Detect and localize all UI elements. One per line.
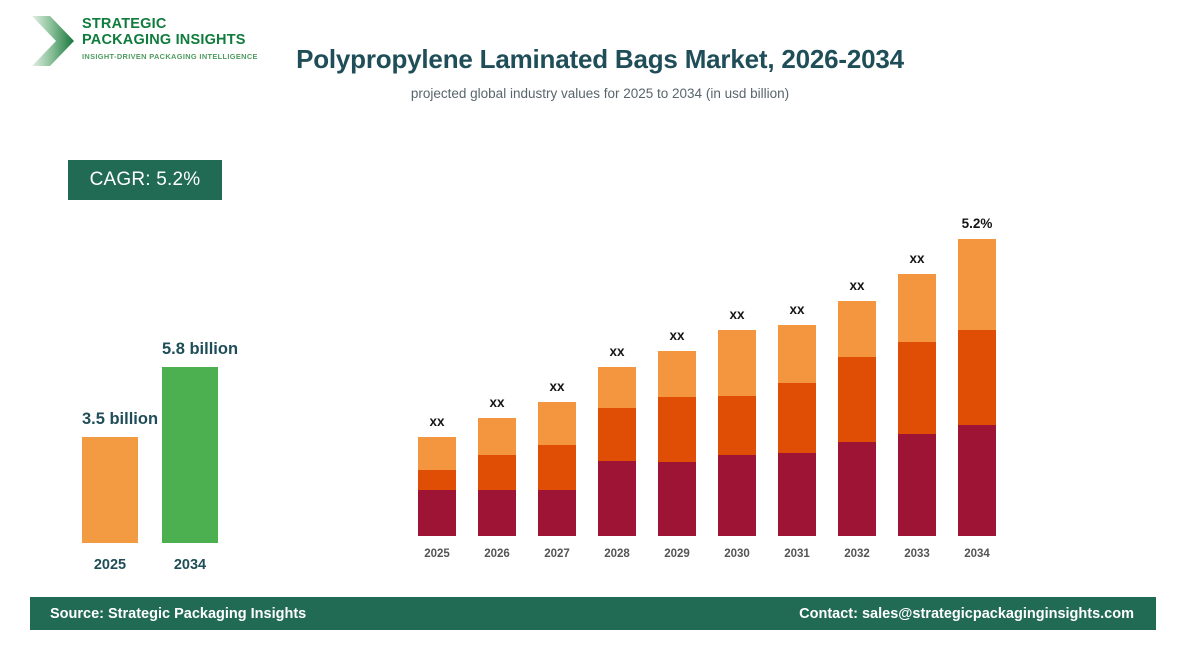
- stacked-segment-segment-top: [658, 351, 696, 397]
- stacked-year-label: 2031: [767, 548, 827, 560]
- stacked-year-label: 2029: [647, 548, 707, 560]
- stacked-segment-segment-top: [778, 325, 816, 383]
- stacked-segment-segment-bottom: [958, 425, 996, 536]
- stacked-column: xx2033: [898, 200, 936, 560]
- stacked-year-label: 2030: [707, 548, 767, 560]
- stacked-segment-segment-bottom: [478, 490, 516, 536]
- stacked-segment-segment-bottom: [418, 490, 456, 536]
- stacked-segment-segment-bottom: [538, 490, 576, 536]
- stacked-segment-segment-middle: [478, 455, 516, 490]
- stacked-value-label: 5.2%: [937, 216, 1017, 231]
- stacked-bar: [658, 351, 696, 536]
- stacked-bar: [838, 301, 876, 536]
- stacked-column: 5.2%2034: [958, 200, 996, 560]
- stacked-segment-segment-bottom: [718, 455, 756, 536]
- comparison-column: 5.8 billion2034: [162, 300, 238, 575]
- stacked-segment-segment-top: [718, 330, 756, 396]
- stacked-segment-segment-middle: [418, 470, 456, 490]
- stacked-column: xx2030: [718, 200, 756, 560]
- logo-line-1: STRATEGIC: [82, 16, 258, 32]
- logo-tagline: INSIGHT-DRIVEN PACKAGING INTELLIGENCE: [82, 52, 258, 61]
- stacked-segment-segment-top: [838, 301, 876, 357]
- stacked-bar: [538, 402, 576, 536]
- stacked-segment-segment-top: [958, 239, 996, 330]
- stacked-column: xx2028: [598, 200, 636, 560]
- stacked-bar: [718, 330, 756, 536]
- forecast-stacked-chart: xx2025xx2026xx2027xx2028xx2029xx2030xx20…: [404, 200, 1014, 560]
- comparison-bar: [82, 437, 138, 543]
- stacked-year-label: 2034: [947, 548, 1007, 560]
- footer-contact-text: Contact: sales@strategicpackaginginsight…: [799, 606, 1134, 622]
- stacked-segment-segment-middle: [838, 357, 876, 442]
- stacked-value-label: xx: [757, 302, 837, 317]
- stacked-segment-segment-top: [898, 274, 936, 342]
- stacked-year-label: 2033: [887, 548, 947, 560]
- footer-bar: Source: Strategic Packaging Insights Con…: [30, 597, 1156, 630]
- comparison-bar: [162, 367, 218, 543]
- comparison-year-label: 2034: [140, 557, 240, 573]
- stacked-value-label: xx: [397, 414, 477, 429]
- stacked-segment-segment-middle: [958, 330, 996, 425]
- stacked-year-label: 2028: [587, 548, 647, 560]
- cagr-badge: CAGR: 5.2%: [68, 160, 222, 200]
- stacked-bar: [958, 239, 996, 536]
- stacked-segment-segment-bottom: [598, 461, 636, 536]
- stacked-bar: [418, 437, 456, 536]
- stacked-value-label: xx: [637, 328, 717, 343]
- stacked-segment-segment-top: [538, 402, 576, 445]
- stacked-segment-segment-top: [418, 437, 456, 470]
- stacked-value-label: xx: [517, 379, 597, 394]
- stacked-value-label: xx: [877, 251, 957, 266]
- stacked-bar: [898, 274, 936, 536]
- stacked-segment-segment-middle: [658, 397, 696, 462]
- stacked-value-label: xx: [817, 278, 897, 293]
- stacked-column: xx2025: [418, 200, 456, 560]
- stacked-bar: [778, 325, 816, 536]
- stacked-segment-segment-middle: [538, 445, 576, 490]
- stacked-segment-segment-bottom: [658, 462, 696, 536]
- logo-wordmark: STRATEGIC PACKAGING INSIGHTS INSIGHT-DRI…: [82, 16, 258, 61]
- stacked-year-label: 2032: [827, 548, 887, 560]
- page-title: Polypropylene Laminated Bags Market, 202…: [240, 42, 960, 76]
- footer-source-text: Source: Strategic Packaging Insights: [50, 606, 306, 622]
- stacked-segment-segment-middle: [778, 383, 816, 453]
- stacked-bar: [478, 418, 516, 536]
- comparison-value-label: 5.8 billion: [140, 340, 260, 359]
- stacked-value-label: xx: [457, 395, 537, 410]
- stacked-segment-segment-top: [478, 418, 516, 455]
- cagr-badge-label: CAGR: 5.2%: [90, 169, 201, 191]
- infographic-canvas: STRATEGIC PACKAGING INSIGHTS INSIGHT-DRI…: [0, 0, 1200, 650]
- stacked-column: xx2031: [778, 200, 816, 560]
- stacked-segment-segment-bottom: [898, 434, 936, 536]
- stacked-column: xx2032: [838, 200, 876, 560]
- stacked-column: xx2029: [658, 200, 696, 560]
- stacked-segment-segment-top: [598, 367, 636, 408]
- stacked-column: xx2026: [478, 200, 516, 560]
- chevron-right-icon: [30, 14, 78, 68]
- stacked-column: xx2027: [538, 200, 576, 560]
- stacked-segment-segment-middle: [718, 396, 756, 455]
- stacked-bar: [598, 367, 636, 536]
- logo-line-2: PACKAGING INSIGHTS: [82, 32, 258, 48]
- stacked-value-label: xx: [577, 344, 657, 359]
- stacked-year-label: 2027: [527, 548, 587, 560]
- stacked-year-label: 2026: [467, 548, 527, 560]
- stacked-segment-segment-middle: [598, 408, 636, 461]
- brand-logo: STRATEGIC PACKAGING INSIGHTS INSIGHT-DRI…: [30, 12, 260, 74]
- stacked-segment-segment-bottom: [838, 442, 876, 536]
- stacked-segment-segment-middle: [898, 342, 936, 434]
- stacked-year-label: 2025: [407, 548, 467, 560]
- comparison-chart: 3.5 billion20255.8 billion2034: [40, 300, 310, 575]
- page-subtitle: projected global industry values for 202…: [240, 86, 960, 101]
- stacked-segment-segment-bottom: [778, 453, 816, 536]
- title-block: Polypropylene Laminated Bags Market, 202…: [240, 42, 960, 101]
